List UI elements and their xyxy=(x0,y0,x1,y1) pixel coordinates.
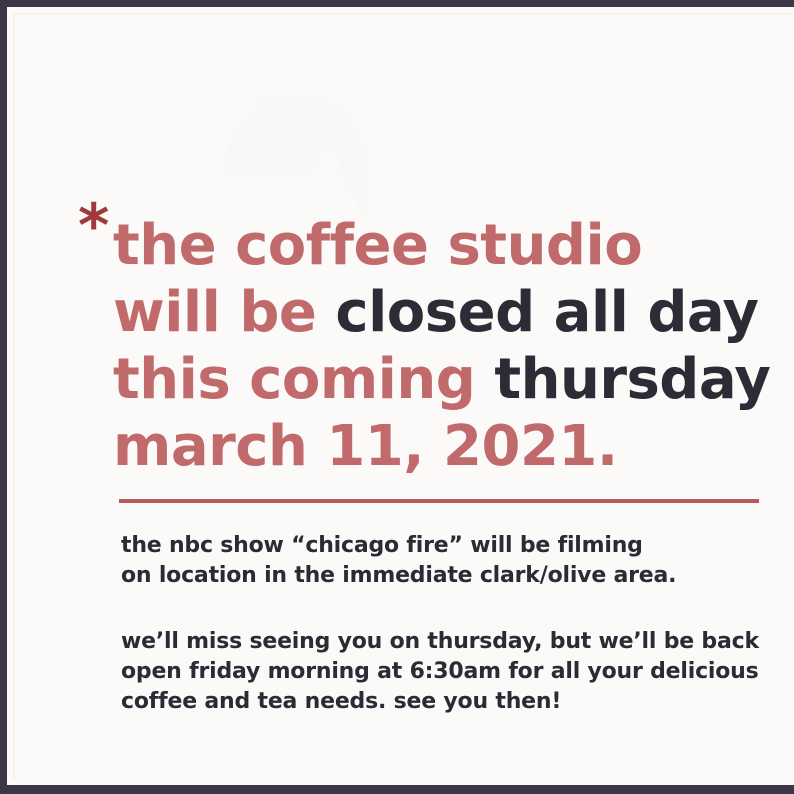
headline-line-1: the coffee studio xyxy=(113,212,773,279)
body-paragraph-1-line-2: on location in the immediate clark/olive… xyxy=(121,563,676,588)
body-paragraph-1: the nbc show “chicago fire” will be film… xyxy=(121,531,781,591)
closure-announcement-poster: * the coffee studio will be closed all d… xyxy=(0,0,794,794)
body-paragraph-1-line-1: the nbc show “chicago fire” will be film… xyxy=(121,533,643,558)
body-copy-block: the nbc show “chicago fire” will be film… xyxy=(121,531,781,717)
body-paragraph-2-line-2: open friday morning at 6:30am for all yo… xyxy=(121,659,759,684)
headline-line-3: this coming thursday xyxy=(113,346,773,413)
headline-line-2-dark-text: closed all day xyxy=(335,280,758,345)
body-paragraph-2: we’ll miss seeing you on thursday, but w… xyxy=(121,627,781,717)
headline-block: the coffee studio will be closed all day… xyxy=(113,212,773,480)
asterisk-mark: * xyxy=(78,196,109,256)
poster-content: * the coffee studio will be closed all d… xyxy=(7,7,794,794)
headline-line-3-dark-text: thursday xyxy=(494,347,770,412)
body-paragraph-2-line-1: we’ll miss seeing you on thursday, but w… xyxy=(121,629,759,654)
headline-line-2: will be closed all day xyxy=(113,279,773,346)
headline-line-1-text: the coffee studio xyxy=(113,213,642,278)
body-paragraph-2-line-3: coffee and tea needs. see you then! xyxy=(121,689,561,714)
headline-line-4-date: march 11, 2021. xyxy=(113,413,773,480)
headline-line-2-rose-text: will be xyxy=(113,280,335,345)
headline-line-3-rose-text: this coming xyxy=(113,347,494,412)
closure-date-text: march 11, 2021. xyxy=(113,414,618,479)
horizontal-divider-rule xyxy=(119,499,759,503)
